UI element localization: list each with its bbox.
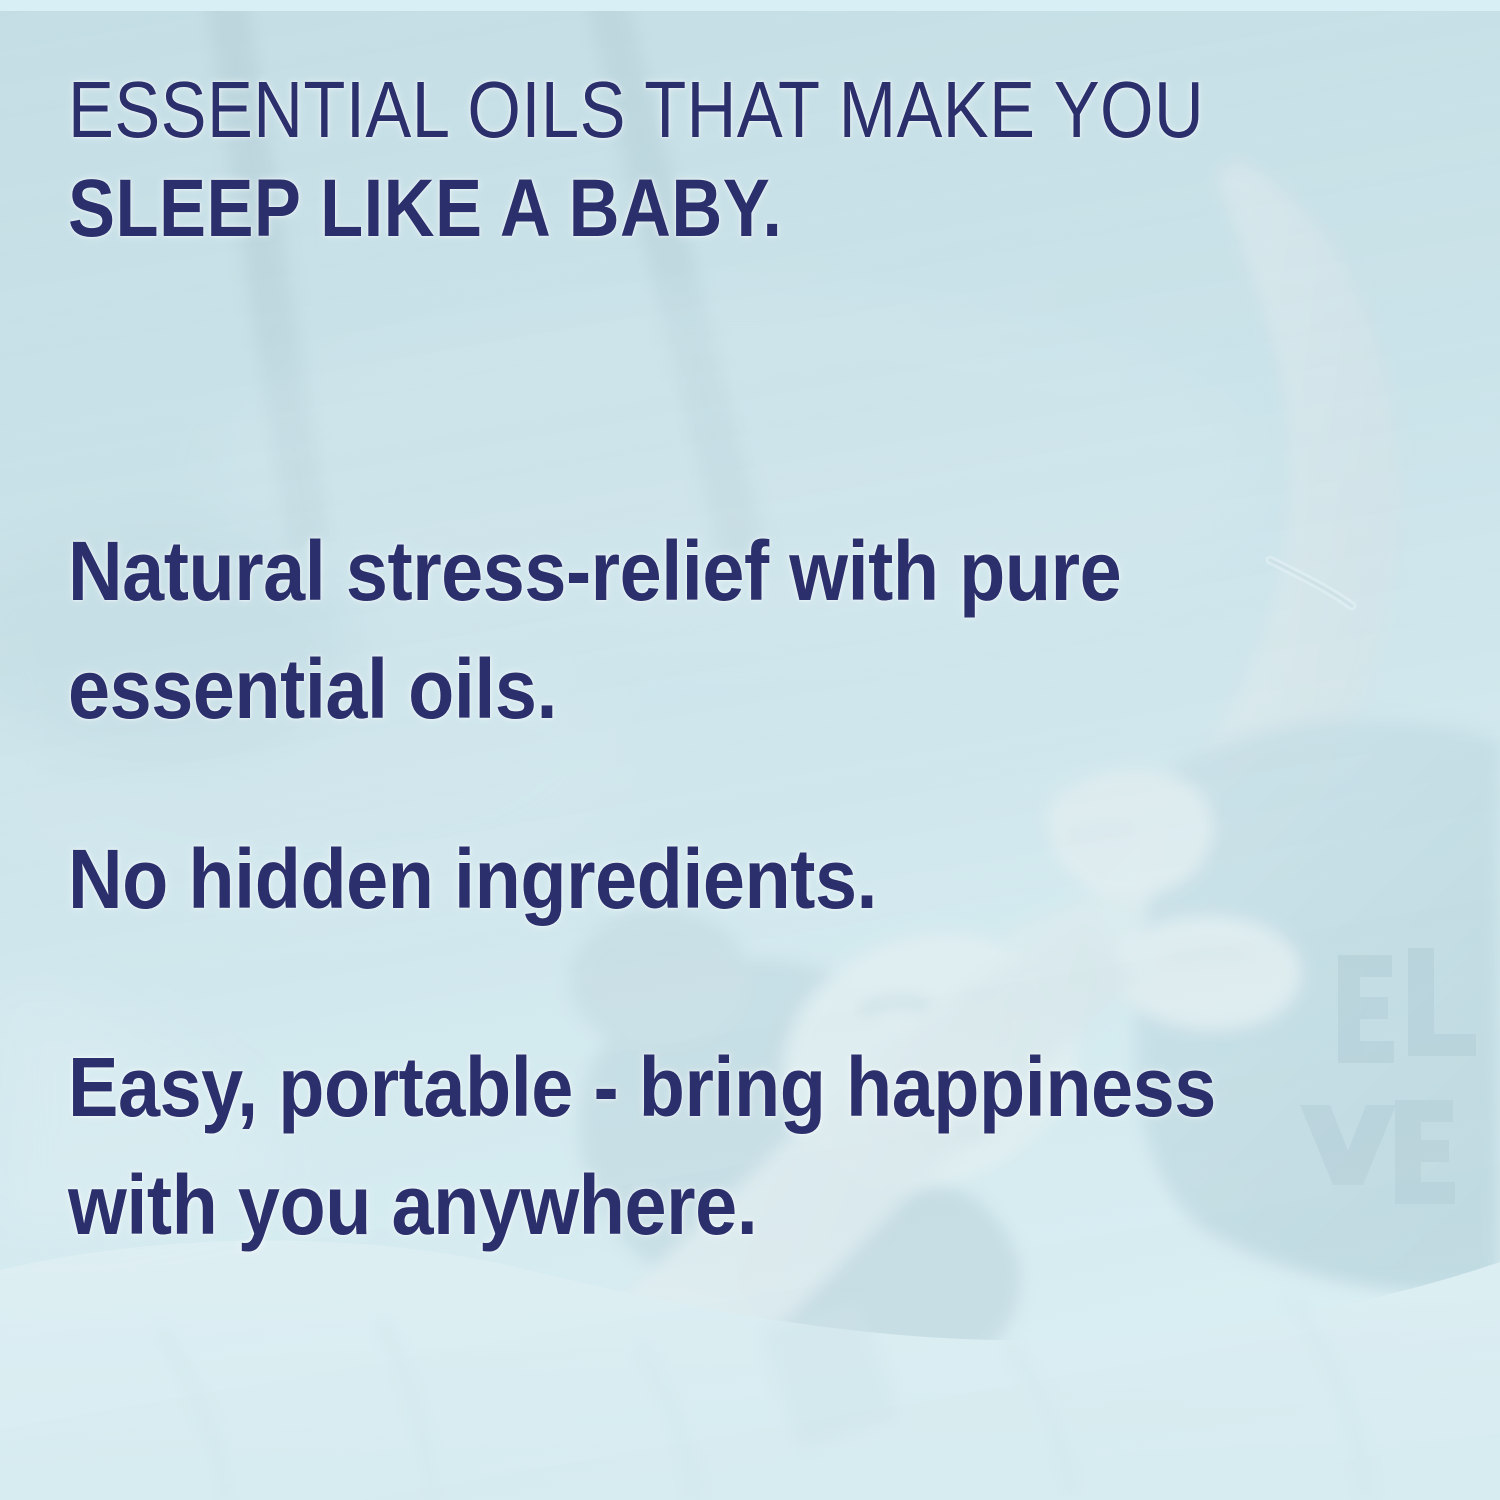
- benefit-block-1: Natural stress-relief with pure essentia…: [68, 512, 1121, 748]
- benefit-1-line-2: essential oils.: [68, 630, 1121, 748]
- top-edge-strip: [0, 0, 1500, 11]
- headline-line-1: ESSENTIAL OILS THAT MAKE YOU: [68, 70, 1204, 150]
- benefit-block-2: No hidden ingredients.: [68, 820, 877, 938]
- benefit-1-line-1: Natural stress-relief with pure: [68, 512, 1121, 630]
- promo-image: ESSENTIAL OILS THAT MAKE YOU SLEEP LIKE …: [0, 0, 1500, 1500]
- benefit-3-line-2: with you anywhere.: [68, 1146, 1216, 1264]
- benefit-block-3: Easy, portable - bring happiness with yo…: [68, 1028, 1216, 1264]
- benefit-3-line-1: Easy, portable - bring happiness: [68, 1028, 1216, 1146]
- benefit-2-line-1: No hidden ingredients.: [68, 820, 877, 938]
- headline-line-2: SLEEP LIKE A BABY.: [68, 168, 782, 250]
